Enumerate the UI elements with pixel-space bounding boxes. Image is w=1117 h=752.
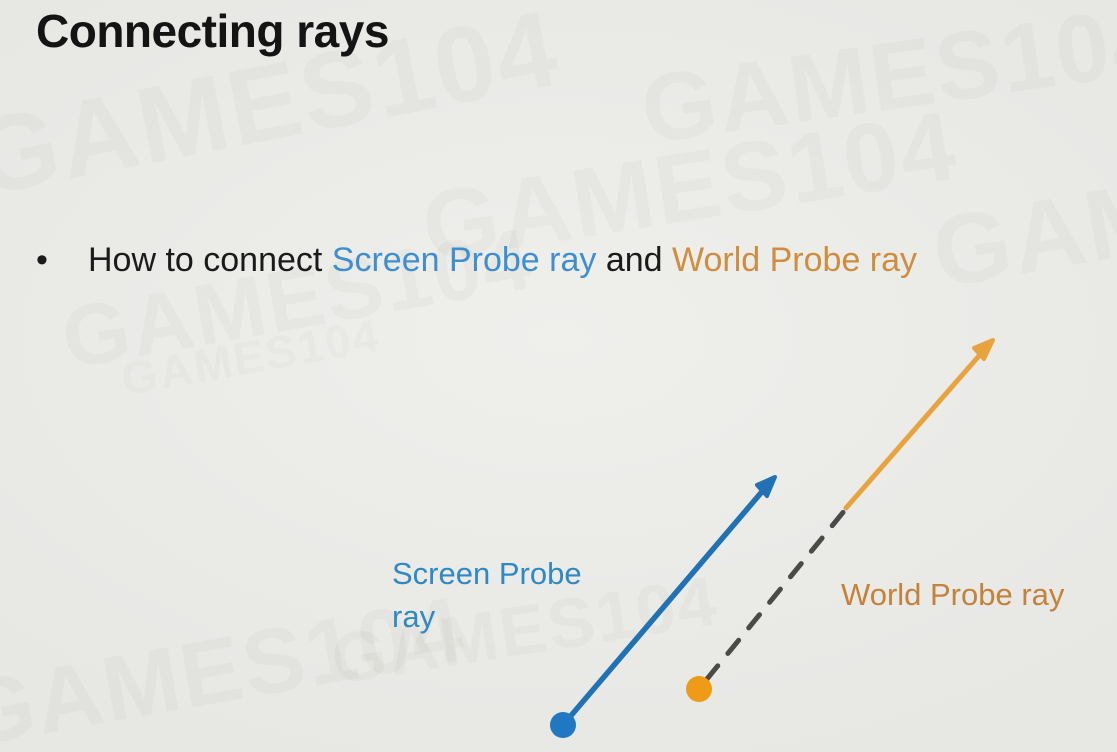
bullet-segment-world-probe: World Probe ray xyxy=(672,241,917,279)
bullet-segment-screen-probe: Screen Probe ray xyxy=(332,241,597,279)
bullet-list-item: • How to connect Screen Probe ray and Wo… xyxy=(34,238,1104,282)
label-screen-probe-ray: Screen Probe ray xyxy=(392,552,632,638)
bullet-segment-plain-1: How to connect xyxy=(88,241,332,279)
connecting-dashed-line xyxy=(707,510,845,679)
bullet-segment-plain-2: and xyxy=(596,241,672,279)
watermark-text: GAMES104 xyxy=(117,308,384,407)
watermark-text: GAMES104 xyxy=(55,210,540,390)
page-title: Connecting rays xyxy=(36,2,389,62)
slide-canvas: GAMES104 GAMES104 GAMES104 GAMES104 GAME… xyxy=(0,0,1117,752)
watermark-text: GAMES104 xyxy=(635,0,1117,166)
world-probe-arrow xyxy=(846,340,993,508)
screen-probe-origin-dot xyxy=(550,712,576,738)
world-probe-origin-dot xyxy=(686,676,712,702)
bullet-text: How to connect Screen Probe ray and Worl… xyxy=(88,238,917,282)
ray-diagram xyxy=(0,0,1117,752)
label-world-probe-ray: World Probe ray xyxy=(841,573,1064,616)
bullet-marker: • xyxy=(34,238,88,282)
